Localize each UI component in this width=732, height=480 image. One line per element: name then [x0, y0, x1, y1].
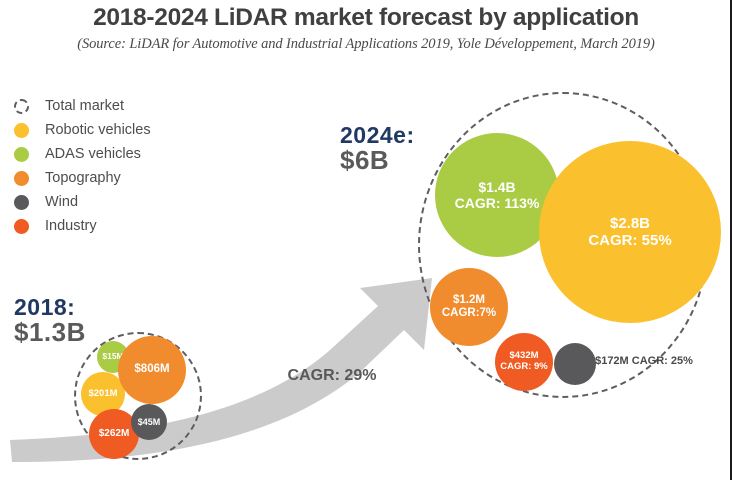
bubble-value-label: $45M [138, 417, 161, 427]
bubble-cagr-label: CAGR: 55% [588, 232, 671, 249]
legend-item-label: Topography [45, 170, 121, 186]
source-subtitle: (Source: LiDAR for Automotive and Indust… [0, 36, 732, 53]
legend-item-adas-vehicles: ADAS vehicles [14, 142, 204, 166]
legend-item-label: Total market [45, 98, 124, 114]
bubble-cagr-label: CAGR: 113% [455, 195, 540, 211]
legend-item-total-market: Total market [14, 94, 204, 118]
year-label-2018: 2018: [14, 296, 86, 319]
legend-item-label: Industry [45, 218, 97, 234]
bubble-value-label: $2.8B [610, 215, 650, 232]
legend-item-label: Wind [45, 194, 78, 210]
circle-icon [14, 171, 29, 186]
year-total-2024: $6B [340, 147, 415, 173]
bubble-value-label: $172M [595, 355, 629, 367]
legend-item-wind: Wind [14, 190, 204, 214]
bubble-2024-wind-label: $172M CAGR: 25% [594, 355, 694, 369]
bubble-cagr-label: CAGR: 25% [632, 355, 693, 367]
bubble-value-label: $1.2M [453, 294, 485, 307]
bubble-2018-wind[interactable]: $45M [131, 404, 167, 440]
year-caption-2024: 2024e: $6B [340, 124, 415, 173]
bubble-cagr-label: CAGR: 9% [500, 362, 548, 373]
infographic-canvas: 2018-2024 LiDAR market forecast by appli… [0, 0, 732, 480]
overall-cagr-line1: CAGR: [288, 367, 340, 384]
year-label-2024: 2024e: [340, 124, 415, 147]
year-total-2018: $1.3B [14, 319, 86, 345]
circle-icon [14, 195, 29, 210]
bubble-2024-industry[interactable]: $432M CAGR: 9% [495, 333, 553, 391]
legend-item-label: Robotic vehicles [45, 122, 151, 138]
bubble-value-label: $262M [99, 428, 130, 440]
legend-item-label: ADAS vehicles [45, 146, 141, 162]
bubble-2024-topography[interactable]: $1.2M CAGR:7% [430, 268, 508, 346]
legend-item-industry: Industry [14, 214, 204, 238]
legend-item-topography: Topography [14, 166, 204, 190]
page-title: 2018-2024 LiDAR market forecast by appli… [0, 4, 732, 32]
legend-item-robotic-vehicles: Robotic vehicles [14, 118, 204, 142]
year-caption-2018: 2018: $1.3B [14, 296, 86, 345]
bubble-2024-wind[interactable] [554, 343, 596, 385]
legend: Total market Robotic vehicles ADAS vehic… [14, 94, 204, 238]
dashed-circle-icon [14, 99, 29, 114]
bubble-value-label: $806M [134, 363, 169, 376]
circle-icon [14, 123, 29, 138]
overall-cagr-line2: 29% [344, 367, 376, 384]
overall-cagr-label: CAGR: 29% [287, 366, 377, 386]
bubble-value-label: $201M [88, 389, 117, 400]
bubble-2024-robotic-vehicles[interactable]: $2.8B CAGR: 55% [539, 141, 721, 323]
circle-icon [14, 219, 29, 234]
bubble-cagr-label: CAGR:7% [442, 307, 496, 320]
bubble-2018-topography[interactable]: $806M [118, 336, 186, 404]
circle-icon [14, 147, 29, 162]
bubble-value-label: $1.4B [478, 179, 515, 195]
